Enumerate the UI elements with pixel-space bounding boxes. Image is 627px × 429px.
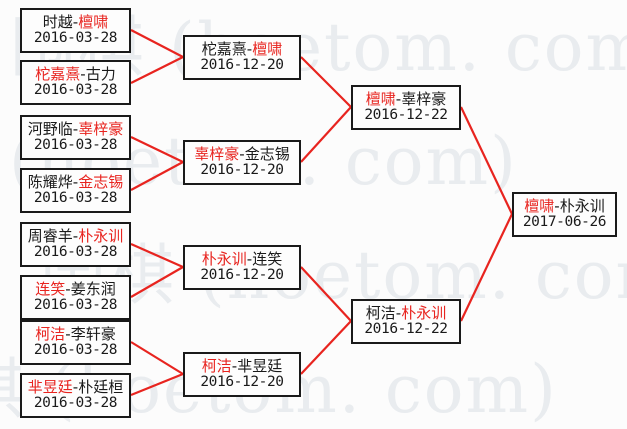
match-date-r1m3: 2016-03-28 (34, 138, 117, 154)
tournament-bracket: 围棋 (hoetom. com) 围棋 (hoetom. com) 围棋 (ho… (0, 0, 627, 429)
match-box-r1m1[interactable]: 时越-檀啸2016-03-28 (20, 8, 131, 53)
player-left-r1m3: 河野临 (28, 120, 73, 138)
r1m8-to-r2m4 (131, 374, 183, 395)
match-players-r2m4: 柯洁-芈昱廷 (202, 358, 282, 374)
player-left-r1m1: 时越 (43, 13, 73, 31)
player-left-r1m6: 连笑 (35, 280, 65, 298)
player-left-r2m2: 辜梓豪 (194, 145, 239, 163)
player-right-r2m2: 金志锡 (245, 145, 290, 163)
match-box-r1m8[interactable]: 芈昱廷-朴廷桓2016-03-28 (20, 373, 131, 418)
r1m1-to-r2m1 (131, 30, 183, 57)
player-left-r2m3: 朴永训 (202, 250, 247, 268)
match-date-r1m5: 2016-03-28 (34, 245, 117, 261)
player-left-r1m5: 周睿羊 (28, 227, 73, 245)
player-right-sf2: 朴永训 (401, 304, 446, 322)
match-players-r1m6: 连笑-姜东润 (35, 281, 115, 297)
match-box-r1m3[interactable]: 河野临-辜梓豪2016-03-28 (20, 115, 131, 160)
match-box-r1m7[interactable]: 柯洁-李轩豪2016-03-28 (20, 320, 131, 365)
sf1-to-final (461, 107, 512, 214)
match-date-f1: 2017-06-26 (523, 215, 606, 231)
match-date-r1m6: 2016-03-28 (34, 298, 117, 314)
match-box-r2m1[interactable]: 柁嘉熹-檀啸2016-12-20 (183, 35, 301, 80)
player-left-sf1: 檀啸 (366, 90, 396, 108)
sf2-to-final (461, 214, 512, 321)
player-left-r1m4: 陈耀烨 (28, 173, 73, 191)
player-right-sf1: 辜梓豪 (401, 90, 446, 108)
match-players-r2m1: 柁嘉熹-檀啸 (202, 41, 282, 57)
match-date-r1m7: 2016-03-28 (34, 343, 117, 359)
match-players-r1m5: 周睿羊-朴永训 (28, 228, 123, 244)
match-box-r2m2[interactable]: 辜梓豪-金志锡2016-12-20 (183, 140, 301, 185)
match-players-sf1: 檀啸-辜梓豪 (366, 91, 446, 107)
match-date-r2m2: 2016-12-20 (200, 163, 283, 179)
player-right-r2m3: 连笑 (252, 250, 282, 268)
player-right-f1: 朴永训 (560, 197, 605, 215)
match-players-r1m8: 芈昱廷-朴廷桓 (28, 379, 123, 395)
player-left-r1m8: 芈昱廷 (28, 378, 73, 396)
match-box-r1m6[interactable]: 连笑-姜东润2016-03-28 (20, 275, 131, 320)
player-right-r1m5: 朴永训 (78, 227, 123, 245)
player-right-r1m2: 古力 (86, 65, 116, 83)
player-left-sf2: 柯洁 (366, 304, 396, 322)
r2m4-to-sf2 (301, 321, 351, 374)
match-box-r1m4[interactable]: 陈耀烨-金志锡2016-03-28 (20, 168, 131, 213)
player-right-r1m4: 金志锡 (78, 173, 123, 191)
player-left-r2m1: 柁嘉熹 (202, 40, 247, 58)
match-box-f1[interactable]: 檀啸-朴永训2017-06-26 (512, 192, 617, 237)
player-right-r1m6: 姜东润 (71, 280, 116, 298)
match-date-r2m1: 2016-12-20 (200, 58, 283, 74)
match-box-r2m3[interactable]: 朴永训-连笑2016-12-20 (183, 245, 301, 290)
r2m2-to-sf1 (301, 107, 351, 162)
match-box-r1m2[interactable]: 柁嘉熹-古力2016-03-28 (20, 60, 131, 105)
match-players-r2m3: 朴永训-连笑 (202, 251, 282, 267)
r2m1-to-sf1 (301, 57, 351, 107)
player-right-r2m4: 芈昱廷 (237, 357, 282, 375)
r1m5-to-r2m3 (131, 244, 183, 267)
player-right-r1m8: 朴廷桓 (78, 378, 123, 396)
r1m6-to-r2m3 (131, 267, 183, 297)
match-date-r1m1: 2016-03-28 (34, 31, 117, 47)
r1m4-to-r2m2 (131, 162, 183, 190)
match-players-r1m3: 河野临-辜梓豪 (28, 121, 123, 137)
match-date-r2m4: 2016-12-20 (200, 375, 283, 391)
match-box-sf2[interactable]: 柯洁-朴永训2016-12-22 (351, 299, 461, 344)
match-players-f1: 檀啸-朴永训 (524, 198, 604, 214)
player-right-r1m7: 李轩豪 (71, 325, 116, 343)
match-date-sf1: 2016-12-22 (364, 108, 447, 124)
player-right-r2m1: 檀啸 (252, 40, 282, 58)
r1m7-to-r2m4 (131, 342, 183, 374)
r1m3-to-r2m2 (131, 137, 183, 162)
player-right-r1m3: 辜梓豪 (78, 120, 123, 138)
match-players-r2m2: 辜梓豪-金志锡 (194, 146, 289, 162)
match-box-r1m5[interactable]: 周睿羊-朴永训2016-03-28 (20, 222, 131, 267)
player-left-r2m4: 柯洁 (202, 357, 232, 375)
match-date-r1m2: 2016-03-28 (34, 83, 117, 99)
match-players-r1m7: 柯洁-李轩豪 (35, 326, 115, 342)
player-left-f1: 檀啸 (524, 197, 554, 215)
match-box-r2m4[interactable]: 柯洁-芈昱廷2016-12-20 (183, 352, 301, 397)
r1m2-to-r2m1 (131, 57, 183, 83)
player-left-r1m2: 柁嘉熹 (35, 65, 80, 83)
player-right-r1m1: 檀啸 (78, 13, 108, 31)
match-date-sf2: 2016-12-22 (364, 322, 447, 338)
player-left-r1m7: 柯洁 (35, 325, 65, 343)
match-players-sf2: 柯洁-朴永训 (366, 305, 446, 321)
match-box-sf1[interactable]: 檀啸-辜梓豪2016-12-22 (351, 85, 461, 130)
r2m3-to-sf2 (301, 267, 351, 321)
match-date-r1m4: 2016-03-28 (34, 191, 117, 207)
match-date-r1m8: 2016-03-28 (34, 396, 117, 412)
match-players-r1m2: 柁嘉熹-古力 (35, 66, 115, 82)
match-date-r2m3: 2016-12-20 (200, 268, 283, 284)
match-players-r1m1: 时越-檀啸 (43, 14, 108, 30)
match-players-r1m4: 陈耀烨-金志锡 (28, 174, 123, 190)
